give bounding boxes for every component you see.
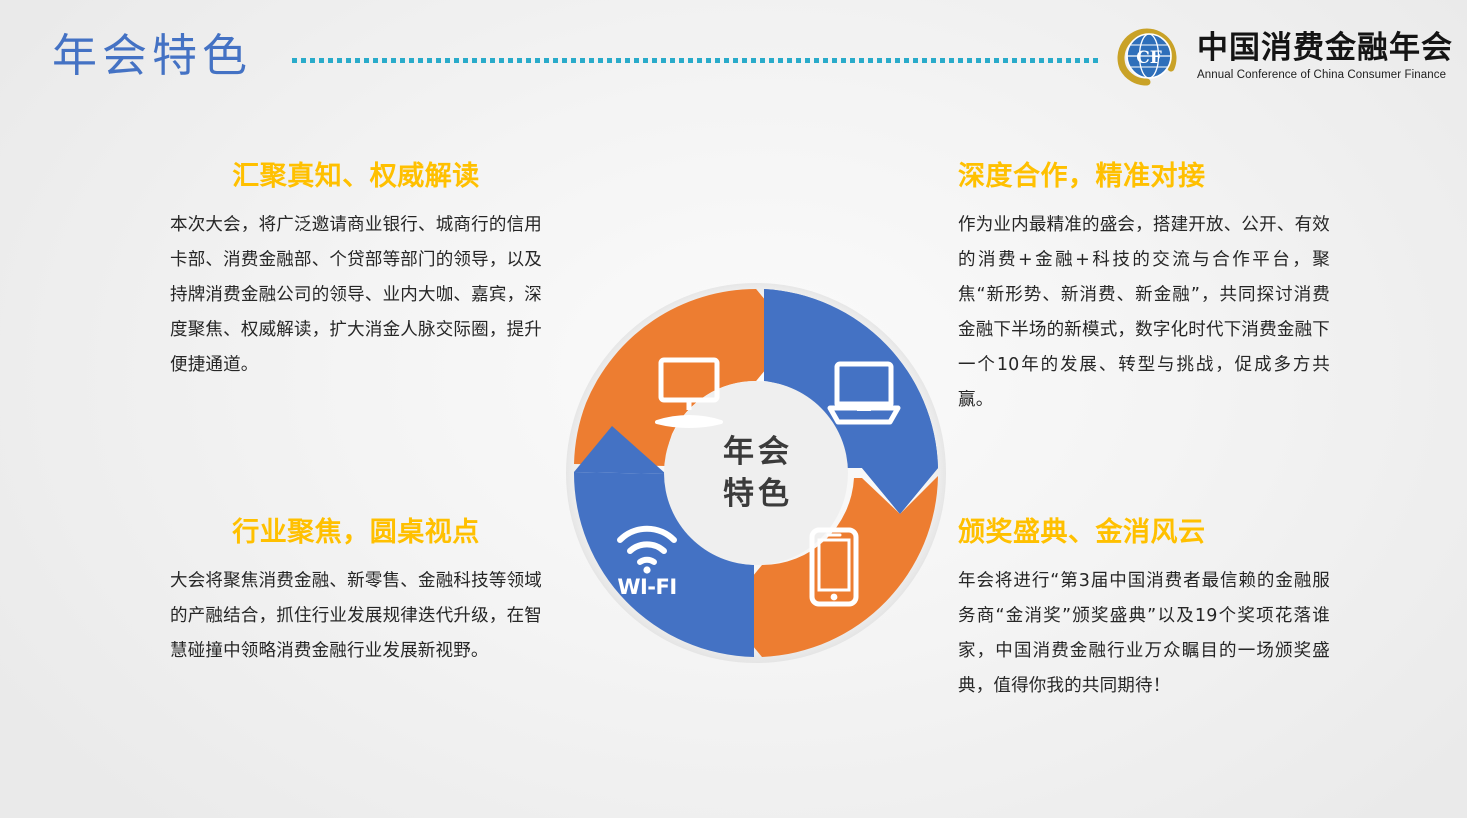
feature-heading-top-right: 深度合作，精准对接 xyxy=(958,160,1330,194)
svg-text:CF: CF xyxy=(1136,48,1162,68)
feature-body-top-right: 作为业内最精准的盛会，搭建开放、公开、有效的消费+金融+科技的交流与合作平台，聚… xyxy=(958,208,1330,418)
cf-globe-emblem-icon: CF xyxy=(1109,18,1185,94)
feature-body-bottom-left: 大会将聚焦消费金融、新零售、金融科技等领域的产融结合，抓住行业发展规律迭代升级，… xyxy=(170,564,542,669)
feature-heading-bottom-left: 行业聚焦，圆桌视点 xyxy=(170,516,542,550)
feature-body-bottom-right: 年会将进行“第3届中国消费者最信赖的金融服务商“金消奖”颁奖盛典”以及19个奖项… xyxy=(958,564,1330,704)
feature-body-top-left: 本次大会，将广泛邀请商业银行、城商行的信用卡部、消费金融部、个贷部等部门的领导，… xyxy=(170,208,542,383)
slide-header: 年会特色 CF 中国消费金融年会 Annual C xyxy=(0,0,1467,112)
cycle-donut-diagram: WI-FI 年会 特色 xyxy=(562,282,950,664)
header-dotted-rule xyxy=(292,58,1098,63)
feature-block-top-left: 汇聚真知、权威解读 本次大会，将广泛邀请商业银行、城商行的信用卡部、消费金融部、… xyxy=(170,160,542,383)
feature-heading-bottom-right: 颁奖盛典、金消风云 xyxy=(958,516,1330,550)
feature-heading-top-left: 汇聚真知、权威解读 xyxy=(170,160,542,194)
page-title: 年会特色 xyxy=(52,28,252,84)
brand-logo-text: 中国消费金融年会 Annual Conference of China Cons… xyxy=(1197,30,1453,83)
brand-name-en: Annual Conference of China Consumer Fina… xyxy=(1197,68,1453,83)
feature-block-bottom-right: 颁奖盛典、金消风云 年会将进行“第3届中国消费者最信赖的金融服务商“金消奖”颁奖… xyxy=(958,516,1330,704)
brand-logo: CF 中国消费金融年会 Annual Conference of China C… xyxy=(1109,16,1453,96)
wifi-label: WI-FI xyxy=(617,575,676,599)
feature-block-bottom-left: 行业聚焦，圆桌视点 大会将聚焦消费金融、新零售、金融科技等领域的产融结合，抓住行… xyxy=(170,516,542,669)
feature-block-top-right: 深度合作，精准对接 作为业内最精准的盛会，搭建开放、公开、有效的消费+金融+科技… xyxy=(958,160,1330,418)
brand-name-cn: 中国消费金融年会 xyxy=(1197,30,1453,66)
slide-canvas: 年会特色 CF 中国消费金融年会 Annual C xyxy=(0,0,1467,818)
